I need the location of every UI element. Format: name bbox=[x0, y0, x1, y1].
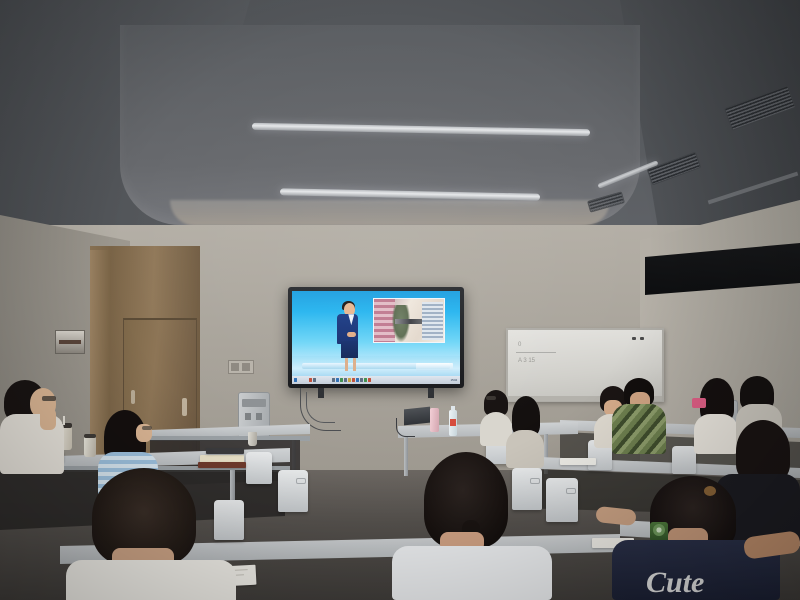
windows-taskbar[interactable]: 15:04 bbox=[292, 376, 460, 384]
p4-torso bbox=[392, 546, 552, 600]
anchor-skirt bbox=[341, 341, 358, 358]
taskbar-clock: 15:04 bbox=[450, 378, 457, 382]
door-hinge bbox=[131, 390, 135, 404]
taskbar-icon-8[interactable] bbox=[352, 378, 355, 382]
taskbar-icon-3[interactable] bbox=[332, 378, 335, 382]
whiteboard-mark-line bbox=[516, 352, 556, 353]
water-bottle[interactable] bbox=[449, 410, 457, 436]
p6-torso bbox=[506, 430, 544, 468]
door-handle-icon[interactable] bbox=[182, 398, 187, 416]
anchor-hands bbox=[347, 332, 356, 337]
pink-thermos[interactable] bbox=[430, 408, 439, 432]
whiteboard-magnet-1[interactable] bbox=[632, 337, 636, 340]
taskbar-icon-5[interactable] bbox=[340, 378, 343, 382]
chair-8[interactable] bbox=[214, 500, 244, 540]
tv-screen: 15:04 bbox=[292, 291, 460, 384]
anchor-leg-right bbox=[353, 358, 356, 371]
taskbar-icon-4[interactable] bbox=[336, 378, 339, 382]
taskbar-icon-10[interactable] bbox=[360, 378, 363, 382]
taskbar-icon-1[interactable] bbox=[309, 378, 312, 382]
p11-hair-clip bbox=[704, 486, 716, 496]
tv-mount-right bbox=[428, 388, 434, 398]
p2-glasses-icon bbox=[142, 426, 152, 430]
chair-5[interactable] bbox=[512, 468, 542, 510]
coffee-cup-2[interactable] bbox=[84, 437, 96, 457]
broadcast-watermark bbox=[416, 363, 453, 371]
p10-hair bbox=[736, 420, 790, 482]
classroom-scene: 0 A 3 15 bbox=[0, 0, 800, 600]
p5-glasses-icon bbox=[486, 396, 496, 400]
notebook-5[interactable] bbox=[198, 462, 246, 468]
taskbar-icon-6[interactable] bbox=[344, 378, 347, 382]
taskbar-icon-7[interactable] bbox=[348, 378, 351, 382]
microphone-stand bbox=[396, 418, 415, 437]
taskbar-icon-12[interactable] bbox=[368, 378, 371, 382]
chair-3[interactable] bbox=[278, 470, 308, 512]
light-switch-panel[interactable] bbox=[228, 360, 254, 374]
inset-building-right bbox=[422, 302, 443, 340]
anchor-suit bbox=[337, 314, 358, 344]
notebook-4[interactable] bbox=[206, 448, 244, 454]
chair-2[interactable] bbox=[246, 452, 272, 484]
wall-control-box bbox=[55, 330, 85, 354]
notebook-right-3[interactable] bbox=[560, 458, 596, 465]
p8-torso-leaf-shirt bbox=[612, 404, 666, 454]
coffee-cup-3[interactable] bbox=[248, 432, 257, 446]
whiteboard-magnet-2[interactable] bbox=[640, 337, 644, 340]
broadcast-photo-insert bbox=[373, 298, 446, 343]
green-handheld-fan[interactable] bbox=[650, 522, 668, 542]
taskbar-icon-9[interactable] bbox=[356, 378, 359, 382]
whiteboard-mark-text: A 3 15 bbox=[518, 358, 535, 365]
soffit-cove-light bbox=[170, 200, 610, 226]
p1-glasses-icon bbox=[42, 396, 56, 401]
p9-torso bbox=[694, 414, 738, 454]
chair-6[interactable] bbox=[546, 478, 578, 522]
anchor-leg-left bbox=[345, 358, 348, 371]
wall-mounted-television[interactable]: 15:04 bbox=[288, 287, 464, 388]
p9-pink-phone[interactable] bbox=[692, 398, 706, 408]
taskbar-start-icon[interactable] bbox=[294, 378, 297, 382]
table-leg-p1 bbox=[404, 436, 408, 476]
taskbar-icon-2[interactable] bbox=[313, 378, 316, 382]
whiteboard-mark-0: 0 bbox=[518, 342, 521, 349]
shirt-script-print: Cute bbox=[646, 566, 704, 600]
chair-9[interactable] bbox=[672, 446, 696, 474]
taskbar-icon-11[interactable] bbox=[364, 378, 367, 382]
p1-arm bbox=[40, 408, 56, 430]
p3-torso bbox=[66, 560, 236, 600]
